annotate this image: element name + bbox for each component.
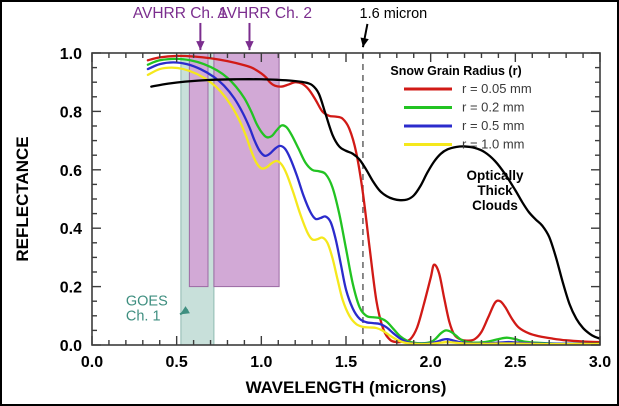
x-axis-title: WAVELENGTH (microns) bbox=[246, 378, 447, 397]
band-avhrr-ch-1 bbox=[189, 53, 208, 287]
legend-label: r = 0.5 mm bbox=[462, 118, 525, 133]
ytick-label: 0.0 bbox=[60, 338, 82, 355]
optically-thick-clouds-label: Clouds bbox=[472, 198, 518, 213]
plot-frame bbox=[92, 53, 600, 345]
ytick-label: 0.2 bbox=[60, 280, 82, 297]
xtick-label: 1.0 bbox=[250, 354, 272, 371]
xtick-label: 2.0 bbox=[420, 354, 442, 371]
ytick-label: 1.0 bbox=[60, 46, 82, 63]
ytick-label: 0.8 bbox=[60, 104, 82, 121]
figure-panel: 0.00.51.01.52.02.53.00.00.20.40.60.81.0W… bbox=[0, 0, 619, 406]
legend-title: Snow Grain Radius (r) bbox=[390, 64, 521, 78]
ytick-label: 0.6 bbox=[60, 163, 82, 180]
legend-label: r = 1.0 mm bbox=[462, 137, 525, 152]
legend-label: r = 0.2 mm bbox=[462, 100, 525, 115]
micron-label: 1.6 micron bbox=[360, 6, 428, 22]
avhrr-ch1-label-arrow-head bbox=[196, 41, 204, 50]
xtick-label: 0.0 bbox=[81, 354, 103, 371]
ytick-label: 0.4 bbox=[60, 221, 82, 238]
avhrr-ch2-label: AVHRR Ch. 2 bbox=[217, 5, 311, 22]
xtick-label: 0.5 bbox=[166, 354, 188, 371]
xtick-label: 3.0 bbox=[589, 354, 611, 371]
optically-thick-clouds-label: Thick bbox=[477, 183, 513, 198]
micron-label-arrow-head bbox=[361, 38, 369, 48]
legend-label: r = 0.05 mm bbox=[462, 81, 532, 96]
reflectance-chart: 0.00.51.01.52.02.53.00.00.20.40.60.81.0W… bbox=[2, 2, 617, 404]
goes-ch1-label: GOES bbox=[126, 294, 168, 310]
avhrr-ch1-label: AVHRR Ch. 1 bbox=[133, 5, 227, 22]
xtick-label: 2.5 bbox=[504, 354, 526, 371]
avhrr-ch2-label-arrow-head bbox=[245, 41, 253, 50]
optically-thick-clouds-label: Optically bbox=[466, 168, 524, 183]
xtick-label: 1.5 bbox=[335, 354, 357, 371]
band-avhrr-ch-2 bbox=[214, 53, 279, 287]
goes-ch1-label: Ch. 1 bbox=[126, 309, 161, 325]
y-axis-title: REFLECTANCE bbox=[13, 136, 32, 261]
